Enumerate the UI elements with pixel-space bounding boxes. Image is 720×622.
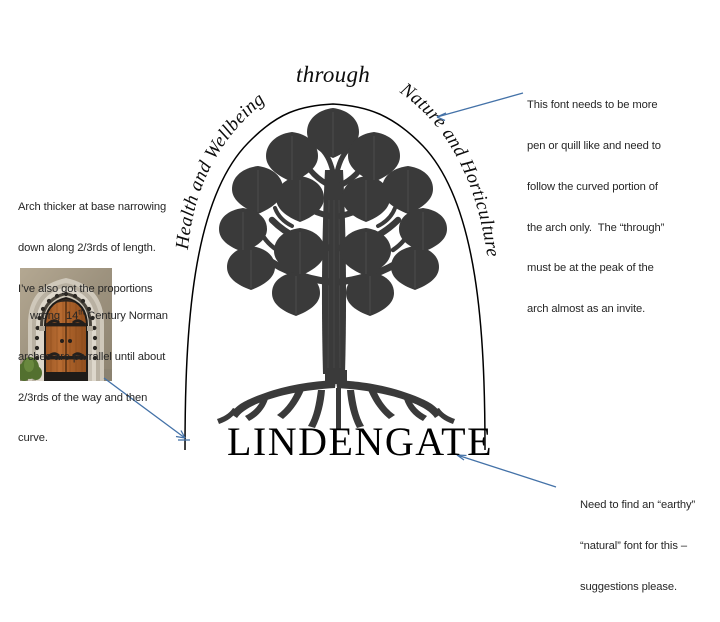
arch-note-line4-post: Century Norman bbox=[84, 310, 168, 322]
annotation-curve-font: This font needs to be more pen or quill … bbox=[527, 72, 685, 344]
slide-canvas: Health and Wellbeing Nature and Horticul… bbox=[0, 0, 720, 540]
right-arc-label: Nature and Horticulture bbox=[395, 78, 503, 258]
font-note-line5: must be at the peak of the bbox=[527, 262, 685, 276]
left-arc-label: Health and Wellbeing bbox=[172, 89, 269, 252]
font-note-line6: arch almost as an invite. bbox=[527, 303, 685, 317]
wordmark-text: LINDENGATE bbox=[227, 419, 493, 464]
tree-leaves bbox=[219, 108, 447, 316]
font-note-line2: pen or quill like and need to bbox=[527, 140, 685, 154]
font-note-line3: follow the curved portion of bbox=[527, 181, 685, 195]
arch-note-line1: Arch thicker at base narrowing bbox=[18, 201, 178, 215]
arch-note-line5: arches are parrallel until about bbox=[18, 351, 178, 365]
earthy-note-line3: suggestions please. bbox=[580, 581, 720, 595]
font-note-line1: This font needs to be more bbox=[527, 99, 685, 113]
font-note-line4: the arch only. The “through” bbox=[527, 222, 685, 236]
arch-outline bbox=[185, 104, 485, 450]
arch-note-line3: I’ve also got the proportions bbox=[18, 283, 178, 297]
arch-note-line7: curve. bbox=[18, 432, 178, 446]
earthy-note-line2: “natural” font for this – bbox=[580, 540, 720, 554]
arch-note-line2: down along 2/3rds of length. bbox=[18, 242, 178, 256]
arch-note-line4-pre: wrong 14 bbox=[30, 310, 78, 322]
arch-note-line6: 2/3rds of the way and then bbox=[18, 392, 178, 406]
tree-logo bbox=[217, 108, 455, 430]
tree-trunk bbox=[322, 170, 346, 374]
annotation-earthy-font: Need to find an “earthy” “natural” font … bbox=[580, 472, 720, 622]
tree-branches bbox=[258, 146, 412, 282]
through-label: through bbox=[296, 62, 370, 88]
arrow-fontnote-to-arch bbox=[437, 93, 523, 121]
annotation-arch-proportions: Arch thicker at base narrowing down alon… bbox=[18, 174, 178, 473]
earthy-note-line1: Need to find an “earthy” bbox=[580, 499, 720, 513]
